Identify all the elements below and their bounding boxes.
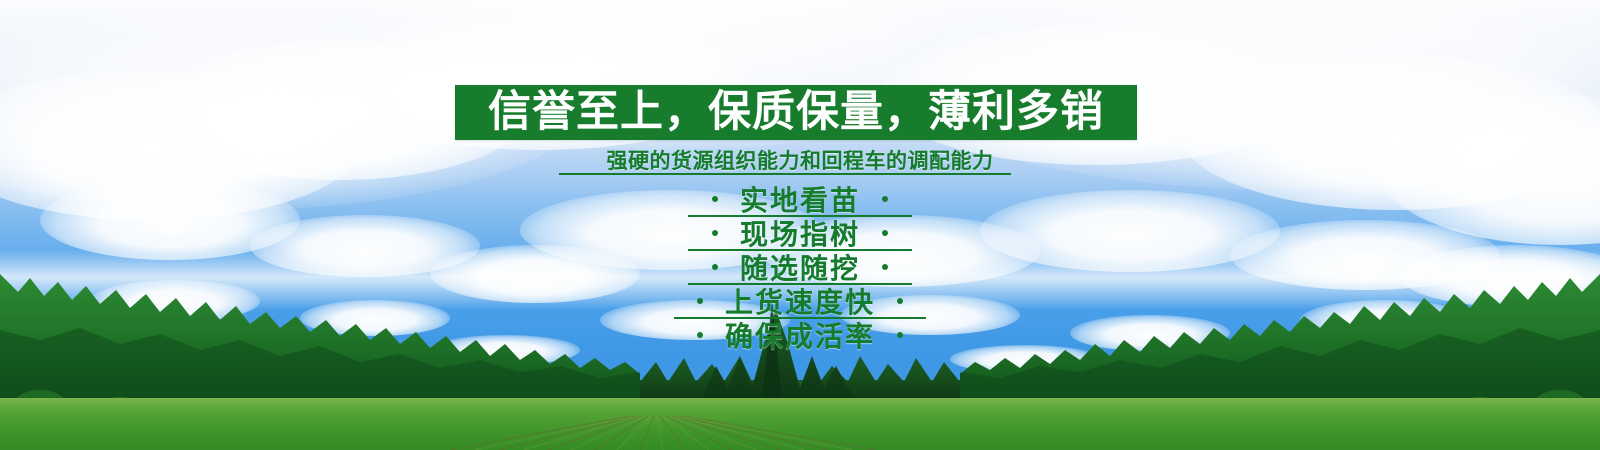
feature-item: 确保成活率: [400, 318, 1200, 352]
subtitle-underline: [559, 173, 1011, 175]
feature-item: 现场指树: [400, 216, 1200, 250]
feature-item: 随选随挖: [400, 250, 1200, 284]
promo-banner: 信誉至上，保质保量，薄利多销 强硬的货源组织能力和回程车的调配能力 实地看苗 现…: [0, 0, 1600, 450]
feature-list: 实地看苗 现场指树 随选随挖 上货速度快: [400, 182, 1200, 352]
bullet-dot-icon: [882, 264, 888, 270]
feature-label: 确保成活率: [703, 315, 897, 355]
headline-bar: 信誉至上，保质保量，薄利多销: [455, 85, 1137, 140]
feature-item: 上货速度快: [400, 284, 1200, 318]
subtitle-text: 强硬的货源组织能力和回程车的调配能力: [400, 145, 1200, 175]
bullet-dot-icon: [897, 332, 903, 338]
bullet-dot-icon: [882, 230, 888, 236]
bullet-dot-icon: [882, 196, 888, 202]
banner-content: 信誉至上，保质保量，薄利多销 强硬的货源组织能力和回程车的调配能力 实地看苗 现…: [0, 0, 1600, 450]
bullet-dot-icon: [897, 298, 903, 304]
feature-item: 实地看苗: [400, 182, 1200, 216]
headline-text: 信誉至上，保质保量，薄利多销: [455, 85, 1137, 140]
